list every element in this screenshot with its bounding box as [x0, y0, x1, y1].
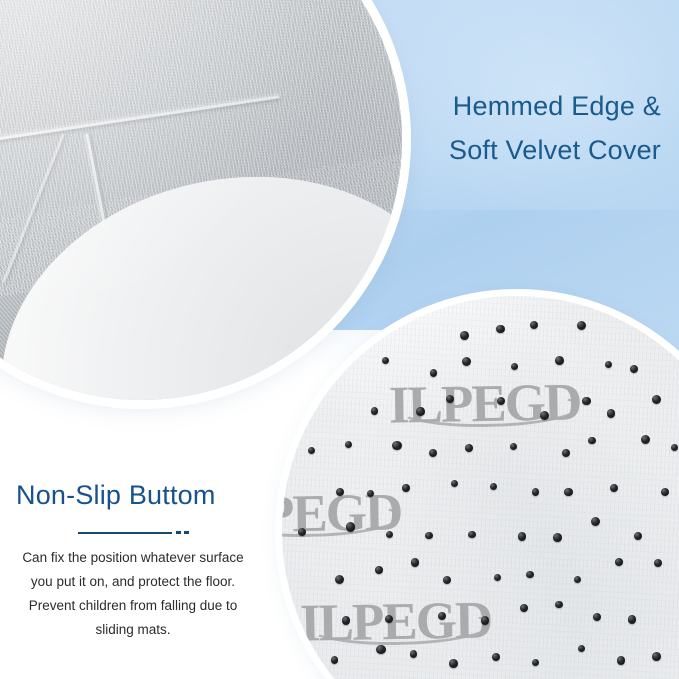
non-slip-dot	[532, 488, 540, 496]
non-slip-dot	[564, 488, 573, 497]
infographic-canvas: ILPEGD ILPEGD ILPEGD Hemmed Edge & Soft …	[0, 0, 679, 679]
non-slip-dot	[582, 397, 591, 406]
non-slip-dot	[520, 604, 528, 612]
non-slip-dot	[345, 441, 352, 448]
divider-dash-2	[184, 531, 189, 534]
non-slip-dot	[492, 653, 500, 661]
non-slip-dot	[628, 615, 637, 624]
non-slip-dot	[367, 490, 374, 497]
non-slip-dot	[577, 321, 586, 330]
non-slip-dot	[438, 612, 446, 620]
non-slip-dot	[496, 325, 504, 333]
non-slip-dot	[386, 531, 393, 538]
non-slip-dot	[610, 484, 618, 492]
body-line-1: Can fix the position whatever surface	[8, 546, 258, 570]
non-slip-dot	[411, 558, 420, 567]
non-slip-dot	[416, 407, 424, 415]
body-line-2: you put it on, and protect the floor.	[8, 570, 258, 594]
non-slip-dot	[382, 357, 389, 364]
non-slip-dot	[346, 522, 355, 531]
non-slip-dot	[574, 576, 582, 584]
non-slip-dot	[468, 531, 475, 538]
non-slip-dot	[402, 484, 410, 492]
non-slip-dot	[607, 409, 616, 418]
heading-divider	[78, 532, 172, 534]
non-slip-dot	[530, 321, 538, 329]
non-slip-dot	[376, 645, 385, 654]
non-slip-dot	[555, 601, 563, 609]
non-slip-dot	[481, 616, 490, 625]
non-slip-bottom-photo: ILPEGD ILPEGD ILPEGD	[282, 296, 679, 679]
non-slip-dot	[511, 363, 518, 370]
non-slip-dot	[540, 411, 549, 420]
non-slip-dot	[449, 659, 458, 668]
non-slip-dot-grid	[282, 296, 679, 679]
non-slip-dot	[605, 361, 612, 368]
non-slip-dot	[462, 357, 471, 366]
non-slip-dot	[392, 441, 401, 450]
non-slip-dot	[593, 613, 602, 622]
divider-dash-1	[176, 531, 181, 534]
non-slip-dot	[641, 435, 650, 444]
non-slip-dot	[385, 615, 393, 623]
non-slip-dot	[375, 566, 383, 574]
non-slip-dot	[518, 532, 527, 541]
non-slip-dot	[451, 480, 458, 487]
non-slip-dot	[497, 397, 506, 406]
feature-heading-non-slip: Non-Slip Buttom	[16, 480, 216, 511]
non-slip-dot	[425, 532, 433, 540]
non-slip-dot	[460, 331, 469, 340]
non-slip-dot	[652, 652, 661, 661]
non-slip-dot	[490, 483, 497, 490]
non-slip-dot	[494, 574, 501, 581]
non-slip-dot	[562, 449, 570, 457]
non-slip-dot	[308, 447, 316, 455]
heading-line-2: Soft Velvet Cover	[241, 128, 661, 172]
non-slip-dot	[615, 558, 623, 566]
non-slip-dot	[526, 571, 534, 579]
non-slip-dot	[588, 437, 596, 445]
non-slip-dot	[342, 616, 350, 624]
non-slip-dot	[465, 444, 473, 452]
non-slip-dot	[510, 443, 518, 451]
non-slip-dot	[630, 365, 638, 373]
non-slip-dot	[634, 532, 642, 540]
non-slip-dot	[298, 528, 306, 536]
non-slip-dot	[331, 656, 339, 664]
non-slip-dot	[591, 517, 600, 526]
non-slip-dot	[430, 369, 437, 376]
feature-heading-hemmed-edge: Hemmed Edge & Soft Velvet Cover	[241, 84, 661, 172]
non-slip-dot	[555, 356, 564, 365]
non-slip-dot	[532, 659, 539, 666]
non-slip-dot	[443, 576, 451, 584]
non-slip-dot	[654, 559, 662, 567]
feature-body-non-slip: Can fix the position whatever surface yo…	[8, 546, 258, 642]
non-slip-dot	[671, 444, 678, 451]
non-slip-dot	[661, 488, 669, 496]
heading-line-1: Hemmed Edge &	[241, 84, 661, 128]
non-slip-dot	[553, 533, 562, 542]
non-slip-dot	[446, 395, 454, 403]
body-line-4: sliding mats.	[8, 618, 258, 642]
non-slip-dot	[335, 575, 344, 584]
non-slip-dot	[336, 488, 344, 496]
non-slip-dot	[617, 656, 626, 665]
body-line-3: Prevent children from falling due to	[8, 594, 258, 618]
non-slip-dot	[578, 645, 585, 652]
non-slip-dot	[429, 449, 437, 457]
non-slip-dot	[371, 407, 379, 415]
non-slip-dot	[410, 650, 418, 658]
non-slip-dot	[652, 395, 661, 404]
